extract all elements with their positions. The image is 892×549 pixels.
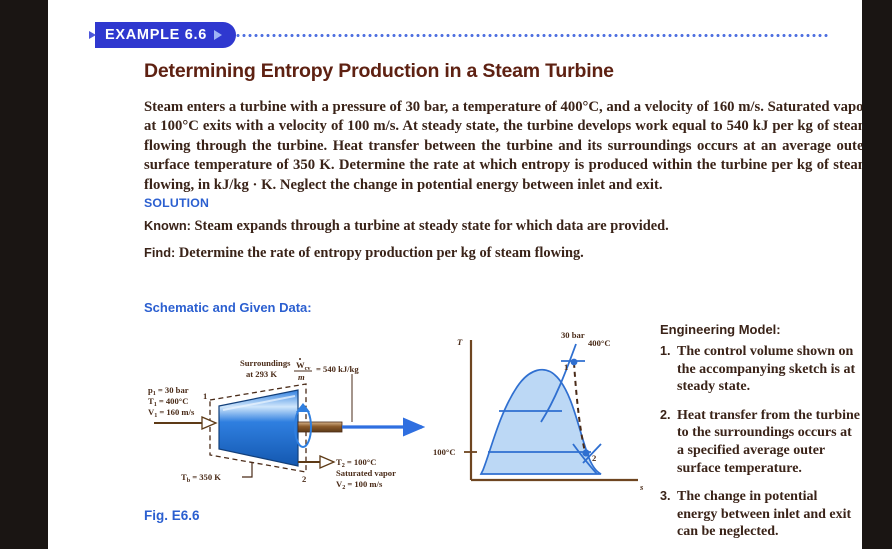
known-text: Steam expands through a turbine at stead… bbox=[195, 218, 669, 234]
item-number: 1. bbox=[660, 343, 671, 396]
ts-y-axis-label: T bbox=[457, 337, 463, 347]
work-denominator: m bbox=[298, 372, 305, 382]
item-text: The change in potential energy between i… bbox=[677, 488, 860, 541]
state-point-1-marker bbox=[571, 359, 578, 366]
ts-state-2-label: 2 bbox=[592, 453, 596, 463]
item-text: Heat transfer from the turbine to the su… bbox=[677, 407, 860, 477]
item-number: 2. bbox=[660, 407, 671, 477]
engineering-model-list: 1. The control volume shown on the accom… bbox=[660, 343, 860, 541]
ts-diagram: T s 30 bar 400°C 1 2 100°C bbox=[433, 322, 658, 507]
V1-subscript: 1 bbox=[154, 412, 157, 419]
surroundings-label-line1: Surroundings bbox=[240, 358, 291, 368]
T1-value: = 400°C bbox=[159, 396, 189, 406]
figure-caption: Fig. E6.6 bbox=[144, 508, 200, 523]
exit-properties: T2= 100°C Saturated vapor V2= 100 m/s bbox=[336, 457, 396, 491]
list-item: 2. Heat transfer from the turbine to the… bbox=[660, 407, 860, 477]
engineering-model-heading: Engineering Model: bbox=[660, 322, 860, 337]
Tb-subscript: b bbox=[187, 477, 191, 484]
example-badge: EXAMPLE 6.6 bbox=[95, 22, 236, 48]
surroundings-label-line2: at 293 K bbox=[246, 369, 277, 379]
boundary-temp-label: Tb= 350 K bbox=[181, 472, 221, 484]
svg-text:V1= 160 m/s: V1= 160 m/s bbox=[148, 407, 195, 419]
inlet-properties: p1= 30 bar T1= 400°C V1= 160 m/s bbox=[148, 385, 195, 419]
exit-arrowhead-icon bbox=[320, 456, 334, 468]
ts-state-1-label: 1 bbox=[564, 362, 568, 372]
dotted-rule bbox=[235, 34, 830, 37]
find-text: Determine the rate of entropy production… bbox=[179, 245, 584, 261]
list-item: 1. The control volume shown on the accom… bbox=[660, 343, 860, 396]
known-line: Known: Steam expands through a turbine a… bbox=[144, 218, 669, 235]
find-line: Find: Determine the rate of entropy prod… bbox=[144, 245, 584, 262]
work-dot-icon bbox=[299, 358, 301, 360]
known-label: Known: bbox=[144, 218, 191, 233]
state-1-label: 1 bbox=[203, 391, 207, 401]
V2-subscript: 2 bbox=[342, 484, 345, 491]
p1-value: = 30 bar bbox=[158, 385, 189, 395]
ts-isotherm-label: 400°C bbox=[588, 338, 611, 348]
T2-value: = 100°C bbox=[347, 457, 377, 467]
ts-x-axis-label: s bbox=[639, 482, 644, 492]
example-badge-label: EXAMPLE 6.6 bbox=[105, 27, 207, 43]
engineering-model: Engineering Model: 1. The control volume… bbox=[660, 322, 860, 549]
ts-isobar-label: 30 bar bbox=[561, 330, 585, 340]
turbine-shaft bbox=[298, 422, 342, 432]
Tb-leader-line bbox=[242, 462, 252, 477]
work-value: = 540 kJ/kg bbox=[316, 364, 359, 374]
V1-value: = 160 m/s bbox=[159, 407, 195, 417]
triangle-right-icon bbox=[214, 30, 222, 40]
solution-heading: SOLUTION bbox=[144, 196, 209, 210]
V2-value: = 100 m/s bbox=[347, 479, 383, 489]
Tb-value: = 350 K bbox=[192, 472, 221, 482]
example-header: EXAMPLE 6.6 bbox=[95, 22, 830, 48]
list-item: 3. The change in potential energy betwee… bbox=[660, 488, 860, 541]
textbook-page: EXAMPLE 6.6 Determining Entropy Producti… bbox=[48, 0, 862, 549]
page-title: Determining Entropy Production in a Stea… bbox=[144, 60, 844, 83]
badge-left-arrow-icon bbox=[89, 31, 96, 39]
ts-y-tick-label: 100°C bbox=[433, 447, 456, 457]
exit-quality: Saturated vapor bbox=[336, 468, 396, 478]
turbine-schematic: Surroundings at 293 K p1= 30 bar T1= 400… bbox=[140, 322, 440, 507]
state-point-2-marker bbox=[582, 449, 589, 456]
turbine-body bbox=[219, 390, 298, 466]
svg-text:V2= 100 m/s: V2= 100 m/s bbox=[336, 479, 383, 491]
problem-statement: Steam enters a turbine with a pressure o… bbox=[144, 98, 862, 195]
state-2-label: 2 bbox=[302, 474, 306, 484]
item-text: The control volume shown on the accompan… bbox=[677, 343, 860, 396]
find-label: Find: bbox=[144, 245, 175, 260]
inlet-arrowhead-icon bbox=[202, 417, 216, 429]
schematic-heading: Schematic and Given Data: bbox=[144, 300, 312, 315]
svg-text:Wcv: Wcv bbox=[296, 360, 311, 372]
work-label: Wcv m = 540 kJ/kg bbox=[294, 358, 359, 382]
item-number: 3. bbox=[660, 488, 671, 541]
